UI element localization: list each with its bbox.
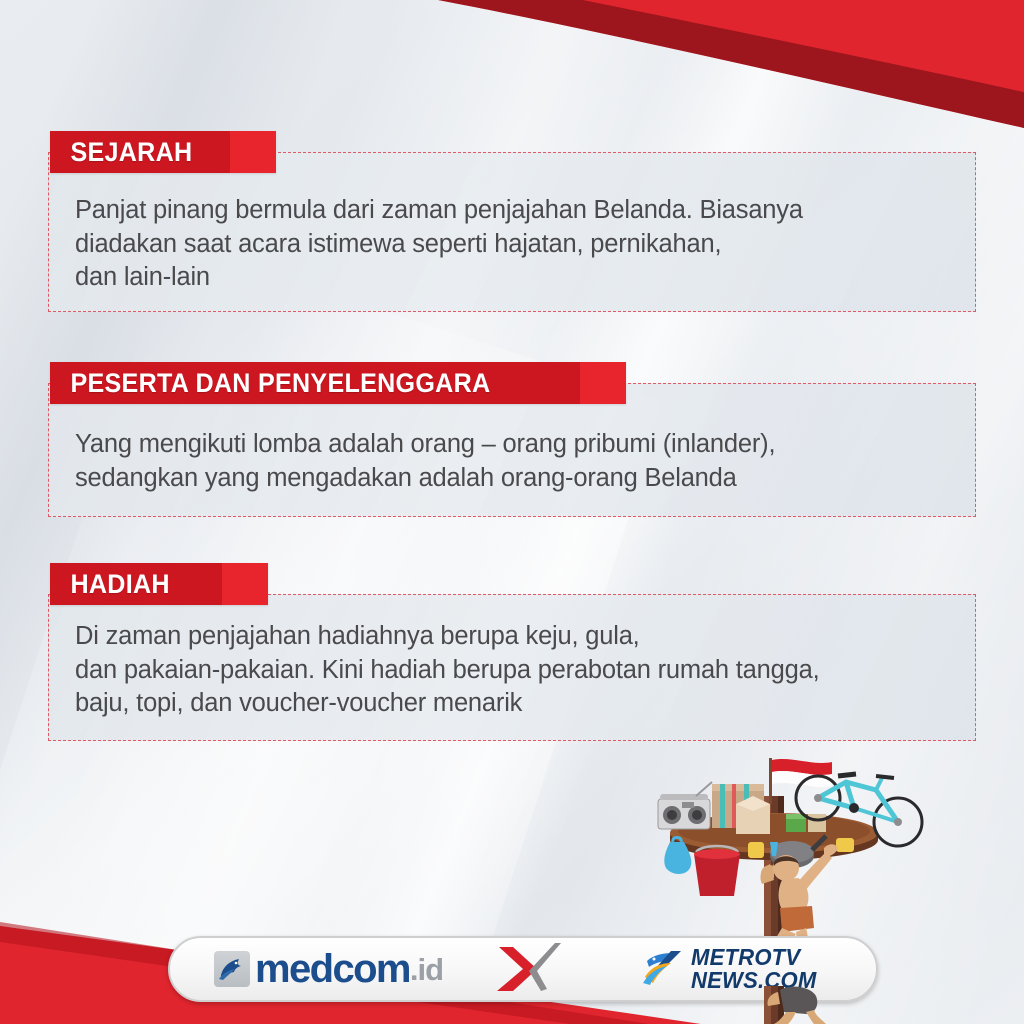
section-body: Di zaman penjajahan hadiahnya berupa kej… bbox=[75, 620, 965, 721]
top-red-wave bbox=[384, 0, 1024, 150]
x-divider-icon bbox=[489, 941, 585, 997]
eagle-head-icon bbox=[214, 951, 250, 987]
medcom-wordmark: medcom bbox=[255, 949, 410, 989]
medcom-logo[interactable]: medcom .id bbox=[214, 949, 443, 989]
card-header-sejarah: SEJARAH bbox=[50, 131, 276, 173]
header-tail-accent bbox=[222, 563, 268, 605]
header-tail-accent bbox=[580, 362, 626, 404]
section-heading: HADIAH bbox=[50, 569, 170, 600]
section-body: Panjat pinang bermula dari zaman penjaja… bbox=[75, 194, 965, 295]
card-header-peserta: PESERTA DAN PENYELENGGARA bbox=[50, 362, 626, 404]
section-heading: PESERTA DAN PENYELENGGARA bbox=[50, 368, 490, 399]
medcom-suffix: .id bbox=[410, 954, 443, 985]
infographic-canvas: SEJARAH Panjat pinang bermula dari zaman… bbox=[0, 0, 1024, 1024]
section-body: Yang mengikuti lomba adalah orang – oran… bbox=[75, 428, 965, 495]
header-tail-accent bbox=[230, 131, 276, 173]
panjat-pinang-foreground bbox=[640, 756, 970, 1024]
card-header-hadiah: HADIAH bbox=[50, 563, 268, 605]
section-heading: SEJARAH bbox=[50, 137, 192, 168]
